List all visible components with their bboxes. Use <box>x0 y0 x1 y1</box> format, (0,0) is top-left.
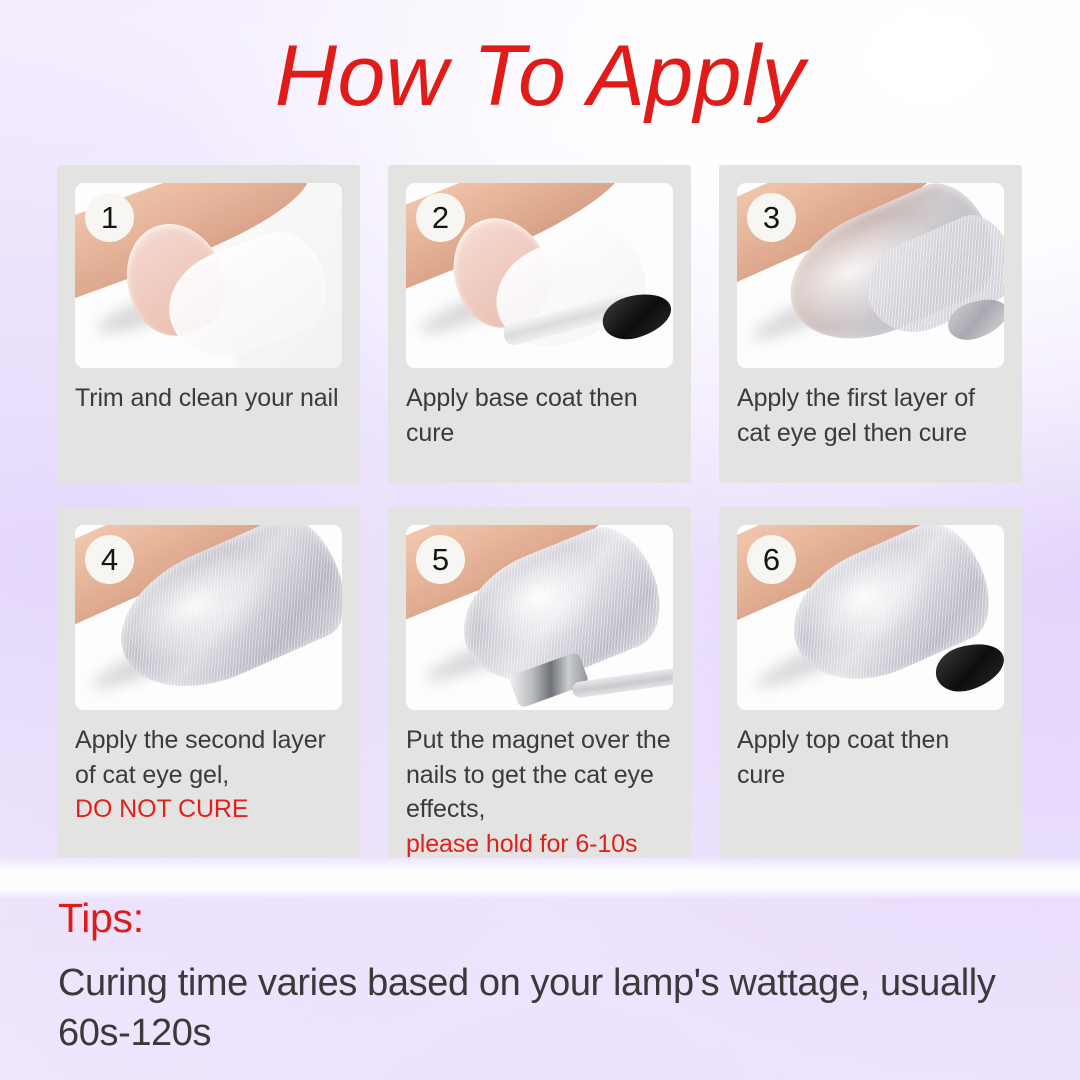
step-4-photo: 4 <box>75 525 342 710</box>
step-4-caption: Apply the second layer of cat eye gel, D… <box>75 723 342 827</box>
step-1-caption: Trim and clean your nail <box>75 381 342 416</box>
step-caption-text: Trim and clean your nail <box>75 384 338 412</box>
step-number-badge: 5 <box>416 535 465 584</box>
step-caption-alert: please hold for 6-10s <box>406 827 673 862</box>
step-caption-text: Apply the first layer of cat eye gel the… <box>737 384 975 447</box>
step-6-caption: Apply top coat then cure <box>737 723 1004 792</box>
step-3-caption: Apply the first layer of cat eye gel the… <box>737 381 1004 450</box>
step-2-photo: 2 <box>406 183 673 368</box>
step-card-5: 5 Put the magnet over the nails to get t… <box>388 507 691 858</box>
step-1-photo: 1 <box>75 183 342 368</box>
step-card-4: 4 Apply the second layer of cat eye gel,… <box>57 507 360 858</box>
step-2-caption: Apply base coat then cure <box>406 381 673 450</box>
tips-body-text: Curing time varies based on your lamp's … <box>58 958 1018 1058</box>
step-card-2: 2 Apply base coat then cure <box>388 165 691 483</box>
step-caption-alert: DO NOT CURE <box>75 792 342 827</box>
step-number-badge: 6 <box>747 535 796 584</box>
tips-label: Tips: <box>58 898 144 939</box>
step-5-photo: 5 <box>406 525 673 710</box>
how-to-apply-infographic: How To Apply 1 Trim and clean your nail <box>0 0 1080 1080</box>
step-number-badge: 1 <box>85 193 134 242</box>
step-caption-text: Apply the second layer of cat eye gel, <box>75 726 326 789</box>
steps-grid: 1 Trim and clean your nail 2 Apply <box>57 165 1023 858</box>
step-card-3: 3 Apply the first layer of cat eye gel t… <box>719 165 1022 483</box>
step-caption-text: Apply base coat then cure <box>406 384 638 447</box>
step-caption-text: Apply top coat then cure <box>737 726 949 789</box>
step-card-1: 1 Trim and clean your nail <box>57 165 360 483</box>
page-title: How To Apply <box>0 33 1080 119</box>
step-5-caption: Put the magnet over the nails to get the… <box>406 723 673 861</box>
step-6-photo: 6 <box>737 525 1004 710</box>
step-number-badge: 3 <box>747 193 796 242</box>
step-3-photo: 3 <box>737 183 1004 368</box>
step-number-badge: 4 <box>85 535 134 584</box>
step-card-6: 6 Apply top coat then cure <box>719 507 1022 858</box>
step-caption-text: Put the magnet over the nails to get the… <box>406 726 671 823</box>
step-number-badge: 2 <box>416 193 465 242</box>
